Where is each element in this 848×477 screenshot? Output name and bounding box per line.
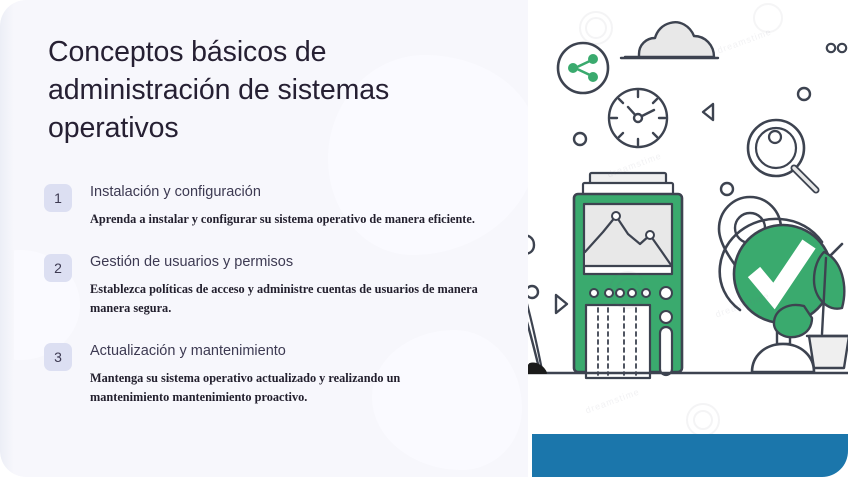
list-item-text: Instalación y configuración Aprenda a in…	[90, 182, 475, 229]
triangle-play-icon	[703, 104, 713, 120]
panel-edge-shading	[0, 0, 14, 477]
small-circle-icon	[721, 183, 733, 195]
list-item-heading: Gestión de usuarios y permisos	[90, 252, 482, 272]
list-item[interactable]: 3 Actualización y mantenimiento Mantenga…	[44, 341, 514, 407]
clock-icon	[609, 89, 667, 147]
step-number-badge: 1	[44, 184, 72, 212]
magnifier-icon	[748, 120, 816, 190]
list-item-text: Gestión de usuarios y permisos Establezc…	[90, 252, 482, 318]
partial-figure	[528, 236, 546, 373]
line-chart-screen-icon	[584, 204, 672, 274]
list-item-text: Actualización y mantenimiento Mantenga s…	[90, 341, 482, 407]
illustration-panel: dreamstime dreamstime dreamstime dreamst…	[528, 0, 848, 477]
list-item-description: Establezca políticas de acceso y adminis…	[90, 280, 482, 318]
triangle-play-icon	[556, 295, 567, 313]
small-circle-icon	[574, 133, 586, 145]
list-item-heading: Instalación y configuración	[90, 182, 475, 202]
illustration-artwork	[528, 0, 848, 477]
list-item-description: Aprenda a instalar y configurar su siste…	[90, 210, 475, 229]
step-number-badge: 2	[44, 254, 72, 282]
content-panel: Conceptos básicos de administración de s…	[0, 0, 528, 477]
small-circle-icon	[798, 88, 810, 100]
server-machine-icon	[574, 173, 682, 378]
bottom-accent-bar	[532, 434, 848, 477]
share-icon	[558, 43, 608, 93]
slide-canvas: Conceptos básicos de administración de s…	[0, 0, 848, 477]
list-item[interactable]: 1 Instalación y configuración Aprenda a …	[44, 182, 514, 229]
page-title: Conceptos básicos de administración de s…	[48, 33, 448, 147]
dots-row-icon	[827, 44, 846, 52]
list-item-description: Mantenga su sistema operativo actualizad…	[90, 369, 482, 407]
list-item[interactable]: 2 Gestión de usuarios y permisos Estable…	[44, 252, 514, 318]
cloud-icon	[621, 22, 718, 58]
list-item-heading: Actualización y mantenimiento	[90, 341, 482, 361]
small-circle-icon	[528, 286, 538, 298]
feature-list: 1 Instalación y configuración Aprenda a …	[44, 182, 514, 430]
step-number-badge: 3	[44, 343, 72, 371]
